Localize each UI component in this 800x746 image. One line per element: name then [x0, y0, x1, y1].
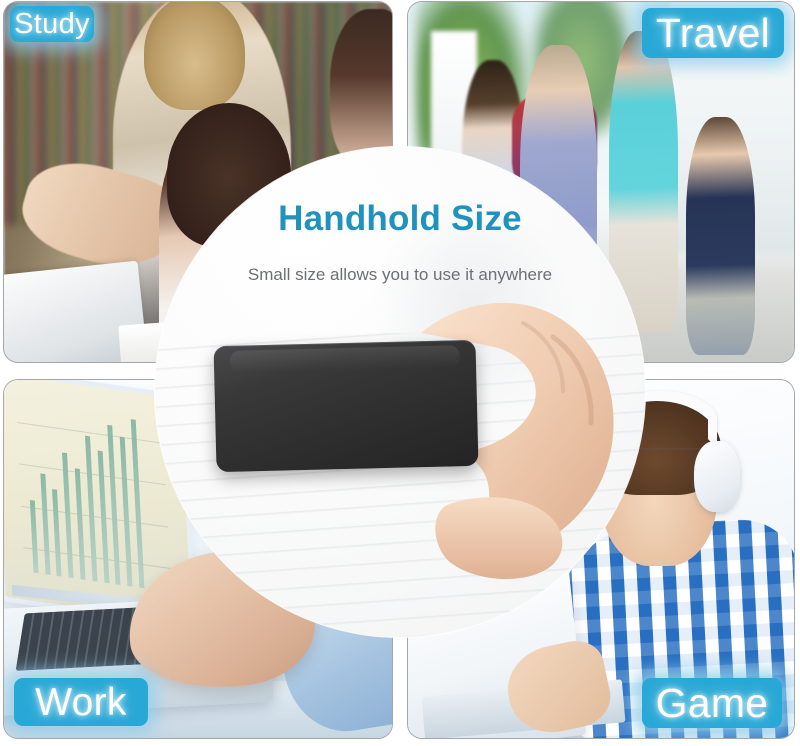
badge-travel: Travel [642, 8, 784, 58]
handhold-size-callout: Handhold Size Small size allows you to u… [155, 147, 645, 637]
product-feature-collage: Study Travel [0, 0, 800, 746]
badge-work: Work [14, 678, 148, 726]
callout-subtext: Small size allows you to use it anywhere [155, 265, 645, 285]
callout-headline: Handhold Size [155, 199, 645, 239]
badge-study: Study [10, 6, 94, 42]
badge-game: Game [642, 678, 782, 728]
laptop-screen-bar-chart [15, 397, 171, 591]
power-adapter-brick [213, 340, 478, 472]
power-cable-strain-relief [155, 187, 165, 209]
